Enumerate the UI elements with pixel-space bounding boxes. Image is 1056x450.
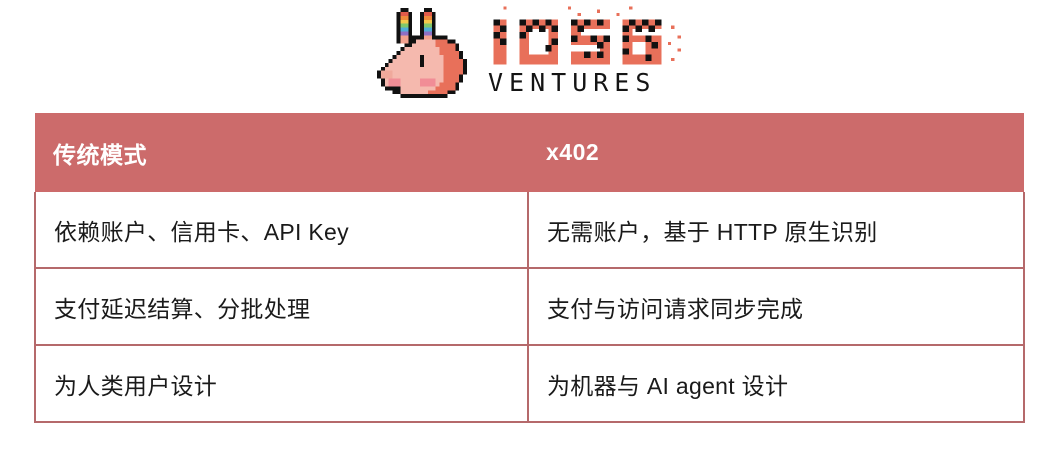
- table-header-row: 传统模式 x402: [35, 113, 1024, 192]
- cell-traditional-3: 为人类用户设计: [35, 345, 528, 422]
- cell-x402-1: 无需账户，基于 HTTP 原生识别: [528, 192, 1024, 268]
- table-row: 依赖账户、信用卡、API Key 无需账户，基于 HTTP 原生识别: [35, 192, 1024, 268]
- cell-x402-3: 为机器与 AI agent 设计: [528, 345, 1024, 422]
- iosg-wordmark-icon: [484, 6, 684, 68]
- comparison-table: 传统模式 x402 依赖账户、信用卡、API Key 无需账户，基于 HTTP …: [34, 113, 1025, 423]
- iosg-ventures-logo: VENTURES: [368, 6, 688, 110]
- cell-traditional-1: 依赖账户、信用卡、API Key: [35, 192, 528, 268]
- table-header: 传统模式 x402: [35, 113, 1024, 192]
- logo-tagline: VENTURES: [488, 70, 656, 95]
- cell-x402-2: 支付与访问请求同步完成: [528, 268, 1024, 345]
- table-body: 依赖账户、信用卡、API Key 无需账户，基于 HTTP 原生识别 支付延迟结…: [35, 192, 1024, 422]
- logo-wordmark-group: VENTURES: [484, 6, 684, 95]
- llama-mascot-icon: [368, 8, 476, 106]
- cell-traditional-2: 支付延迟结算、分批处理: [35, 268, 528, 345]
- table-row: 支付延迟结算、分批处理 支付与访问请求同步完成: [35, 268, 1024, 345]
- table-row: 为人类用户设计 为机器与 AI agent 设计: [35, 345, 1024, 422]
- column-header-x402: x402: [528, 113, 1024, 192]
- column-header-traditional: 传统模式: [35, 113, 528, 192]
- page-root: VENTURES 传统模式 x402 依赖账户、信用卡、API Key 无需账户…: [0, 0, 1056, 450]
